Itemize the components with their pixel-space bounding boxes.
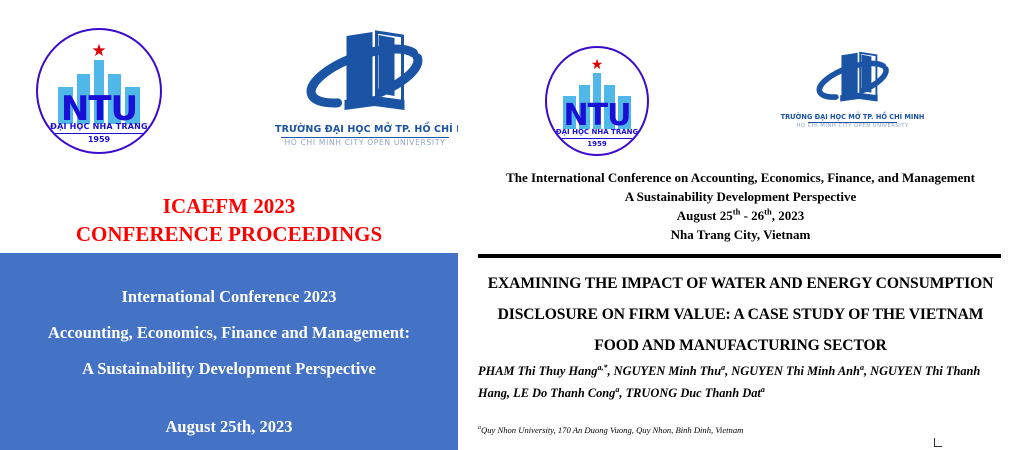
author-name: TRUONG Duc Thanh Dat — [626, 386, 761, 400]
author-name: LE Do Thanh Cong — [513, 386, 615, 400]
author-name: NGUYEN Minh Thu — [614, 364, 721, 378]
proceedings-title-line-2: CONFERENCE PROCEEDINGS — [0, 220, 458, 248]
header-separator-rule — [478, 254, 1001, 258]
document-page: ★ NTU ĐẠI HỌC NHA TRANG 1959 — [0, 0, 1023, 450]
ntu-divider — [560, 138, 634, 139]
paper-title-line-1: EXAMINING THE IMPACT OF WATER AND ENERGY… — [468, 268, 1013, 299]
conference-date-middle: - 26 — [740, 208, 764, 223]
banner-line-2: Accounting, Economics, Finance and Manag… — [0, 315, 458, 351]
banner-line-1: International Conference 2023 — [0, 279, 458, 315]
hcmcou-english-name: HO CHI MINH CITY OPEN UNIVERSITY — [780, 123, 925, 129]
open-book-orbit-icon — [814, 50, 892, 108]
text-cursor-icon — [932, 438, 944, 448]
affiliation-note: aQuy Nhon University, 170 An Duong Vuong… — [478, 424, 1006, 436]
hcmcou-logo: TRƯỜNG ĐẠI HỌC MỞ TP. HỒ CHÍ MINH HO CHI… — [780, 50, 925, 150]
author-affiliation-marker: a,* — [597, 363, 607, 372]
hcmcou-vietnamese-name: TRƯỜNG ĐẠI HỌC MỞ TP. HỒ CHÍ MINH — [275, 124, 455, 135]
conference-date-suffix: , 2023 — [772, 208, 805, 223]
hcmcou-vietnamese-name: TRƯỜNG ĐẠI HỌC MỞ TP. HỒ CHÍ MINH — [780, 113, 925, 121]
conference-dates: August 25th - 26th, 2023 — [458, 206, 1023, 225]
ntu-vietnamese-name: ĐẠI HỌC NHA TRANG — [38, 122, 160, 131]
ntu-founding-year: 1959 — [38, 135, 160, 144]
paper-logo-row: ★ NTU ĐẠI HỌC NHA TRANG 1959 — [458, 42, 1023, 152]
ntu-logo: ★ NTU ĐẠI HỌC NHA TRANG 1959 — [545, 46, 649, 156]
ntu-vietnamese-name: ĐẠI HỌC NHA TRANG — [547, 128, 647, 136]
open-book-orbit-icon — [303, 30, 428, 118]
banner-text-block: International Conference 2023 Accounting… — [0, 279, 458, 387]
hcmcou-logo: TRƯỜNG ĐẠI HỌC MỞ TP. HỒ CHÍ MINH HO CHI… — [275, 30, 455, 155]
ntu-founding-year: 1959 — [547, 140, 647, 148]
paper-title-line-2: DISCLOSURE ON FIRM VALUE: A CASE STUDY O… — [468, 299, 1013, 330]
paper-first-page-pane: ★ NTU ĐẠI HỌC NHA TRANG 1959 — [458, 0, 1023, 450]
affiliation-text: Quy Nhon University, 170 An Duong Vuong,… — [481, 425, 743, 435]
paper-title: EXAMINING THE IMPACT OF WATER AND ENERGY… — [468, 268, 1013, 361]
cover-logo-row: ★ NTU ĐẠI HỌC NHA TRANG 1959 — [0, 18, 458, 148]
conference-name: The International Conference on Accounti… — [458, 168, 1023, 187]
ntu-divider — [54, 133, 144, 134]
conference-subtitle: A Sustainability Development Perspective — [458, 187, 1023, 206]
star-icon: ★ — [91, 43, 106, 60]
proceedings-title: ICAEFM 2023 CONFERENCE PROCEEDINGS — [0, 192, 458, 248]
conference-date-prefix: August 25 — [677, 208, 733, 223]
author-affiliation-marker: a — [761, 385, 765, 394]
hcmcou-english-name: HO CHI MINH CITY OPEN UNIVERSITY — [275, 138, 455, 147]
proceedings-cover-pane: ★ NTU ĐẠI HỌC NHA TRANG 1959 — [0, 0, 458, 450]
star-icon: ★ — [591, 58, 604, 72]
banner-line-3: A Sustainability Development Perspective — [0, 351, 458, 387]
ntu-logo: ★ NTU ĐẠI HỌC NHA TRANG 1959 — [36, 28, 162, 154]
conference-header: The International Conference on Accounti… — [458, 168, 1023, 244]
cover-blue-banner: International Conference 2023 Accounting… — [0, 253, 458, 450]
author-name: PHAM Thi Thuy Hang — [478, 364, 597, 378]
proceedings-title-line-1: ICAEFM 2023 — [0, 192, 458, 220]
banner-date: August 25th, 2023 — [0, 417, 458, 437]
author-name: NGUYEN Thi Minh Anh — [731, 364, 860, 378]
conference-location: Nha Trang City, Vietnam — [458, 225, 1023, 244]
author-list: PHAM Thi Thuy Hanga,*, NGUYEN Minh Thua,… — [478, 360, 1006, 404]
paper-title-line-3: FOOD AND MANUFACTURING SECTOR — [468, 330, 1013, 361]
conference-date-ordinal-2: th — [764, 207, 772, 217]
